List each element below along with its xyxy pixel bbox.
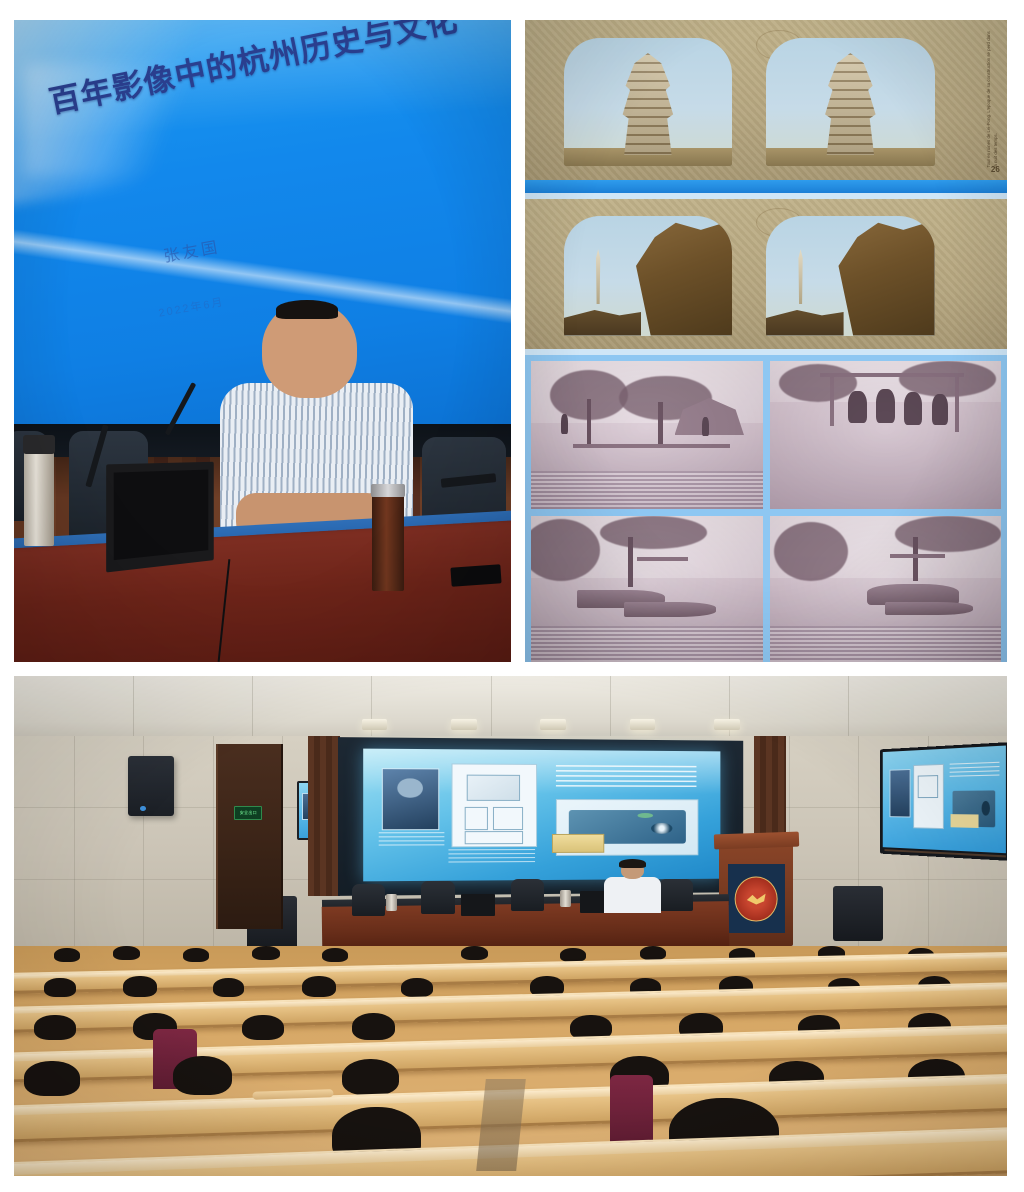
moored-boat [624,602,717,617]
ground [770,402,1002,509]
stereo-half-right [766,216,935,336]
tree-trunk [658,402,663,443]
downlight-icon [362,719,388,730]
dock-rail [890,554,946,558]
pond-water [531,471,763,509]
pagoda-spire [793,249,808,304]
shelter-post [830,376,835,426]
ceiling [14,676,1007,741]
moored-boat [885,602,973,615]
photo-canal-boats-left [531,516,763,662]
slide-portrait-caption [378,832,444,848]
slide-date: 2022年6月 [157,294,225,321]
office-chair [511,879,545,912]
stereo-half-left [564,216,733,336]
audience-seating [14,946,1007,1176]
stereo-half-right [766,38,935,166]
thatched-hut [675,397,744,435]
diagram-detail-box [464,807,488,830]
person-figure [932,394,948,425]
mobile-phone-icon [451,564,502,587]
covered-boat [867,584,960,605]
tree-canopy [899,361,996,397]
camera-lens-icon [651,822,672,833]
hill-ridge [766,302,844,336]
cup-icon [560,890,571,907]
sky [770,361,1002,405]
stereo-card-pagoda-ruin: Tour en ruines de Lei-Fong. L'epoque de … [525,20,1007,180]
wooden-lectern [719,841,793,946]
person-figure [702,417,709,436]
speaker-head [262,302,357,397]
person-figure [904,392,923,425]
office-chair [659,879,693,912]
tree-trunk [587,399,592,443]
lectern-front-panel [728,864,785,933]
seat-back [610,1075,654,1144]
lecture-hall-photo: 安全出口 [14,676,1007,1176]
ground [531,578,763,662]
slide-body-text [556,765,696,788]
office-chair [421,881,455,914]
diagram-detail-box [464,831,522,844]
slide-film-label-thumb [950,814,978,827]
downlight-icon [714,719,740,730]
rock-outcrop [830,216,935,336]
downlight-icon [630,719,656,730]
screen-backing-wall [338,737,743,896]
slide-blue-divider [525,180,1007,193]
pagoda-spire [591,249,606,304]
diagram-detail-box [493,807,523,830]
sky [531,361,763,429]
sepia-photo-grid [525,355,1007,662]
hall-door[interactable] [216,744,284,929]
downlight-icon [540,719,566,730]
footbridge [573,444,730,448]
ground [531,423,763,509]
photo-village-pond [531,361,763,509]
hill-ridge [564,302,642,336]
canal-water [770,626,1002,662]
exit-sign-label: 安全出口 [240,810,257,816]
film-box-label [551,834,604,852]
speaker-hair [276,300,339,319]
presenter-hair [619,859,646,868]
slide-inventor-portrait [382,768,439,830]
photo-people-shelter [770,361,1002,509]
exit-sign: 安全出口 [234,806,262,820]
laptop-icon [107,462,215,572]
photo-collage: 百年影像中的杭州历史与文化 张友国 2022年6月 [0,0,1024,1192]
university-emblem-icon [735,876,778,921]
tree-canopy [600,516,706,549]
person-figure [876,389,895,423]
person-figure [561,414,568,433]
ground [770,578,1002,662]
stereoview-slide-photo: Tour en ruines de Lei-Fong. L'epoque de … [525,20,1007,662]
tree-trunk [913,537,918,581]
projection-screen [363,748,719,881]
slide-patent-diagram [452,763,537,847]
vacuum-flask-icon [386,894,397,911]
wall-speaker-icon [128,756,174,816]
person-figure [848,391,867,424]
pagoda-ruin [611,53,685,155]
moored-boat [577,590,665,608]
tree-canopy [619,376,712,420]
diagram-camera-cube [466,774,519,801]
downlight-icon [451,719,477,730]
tea-tumbler-icon [372,495,404,591]
pagoda-ruin [813,53,887,155]
tree-canopy [895,516,1001,552]
tree-canopy [550,370,629,420]
slide-portrait-thumb [889,769,910,818]
mirrored-slide [883,746,1006,858]
tree-canopy [531,519,600,581]
sky [531,516,763,584]
camera-knob-icon [637,812,653,817]
vacuum-flask-icon [24,450,54,546]
presenter-shirt [604,877,661,913]
card-number: 26 [991,165,1000,174]
rock-outcrop [628,216,733,336]
shelter-post [955,373,960,432]
sky [770,516,1002,584]
wood-wall-panel [308,736,340,896]
dock-rail [637,557,688,561]
tree-canopy [779,364,858,402]
slide-camera-photo [556,799,698,856]
office-chair [352,884,386,917]
slide-diagram-caption [448,848,535,861]
shelter-beam [820,373,964,377]
stereo-half-left [564,38,733,166]
speaker-photo: 百年影像中的杭州历史与文化 张友国 2022年6月 [14,20,511,662]
stereo-card-pagoda-rock [525,199,1007,349]
photo-canal-boats-right [770,516,1002,662]
tree-canopy [774,522,848,581]
presenter-person [610,861,656,911]
tree-trunk [628,537,633,587]
card-caption-text: Tour en ruines de Lei-Fong. L'epoque de … [985,30,1001,168]
canal-water [531,626,763,662]
slide-author: 张友国 [161,233,221,267]
lectern-top [714,831,799,849]
slide-diagram-thumb [913,764,944,829]
slide-text-thumb [949,761,999,780]
wall-mounted-monitor-right [880,742,1007,861]
laptop-icon [461,894,495,916]
floor-speaker-icon [833,886,883,941]
